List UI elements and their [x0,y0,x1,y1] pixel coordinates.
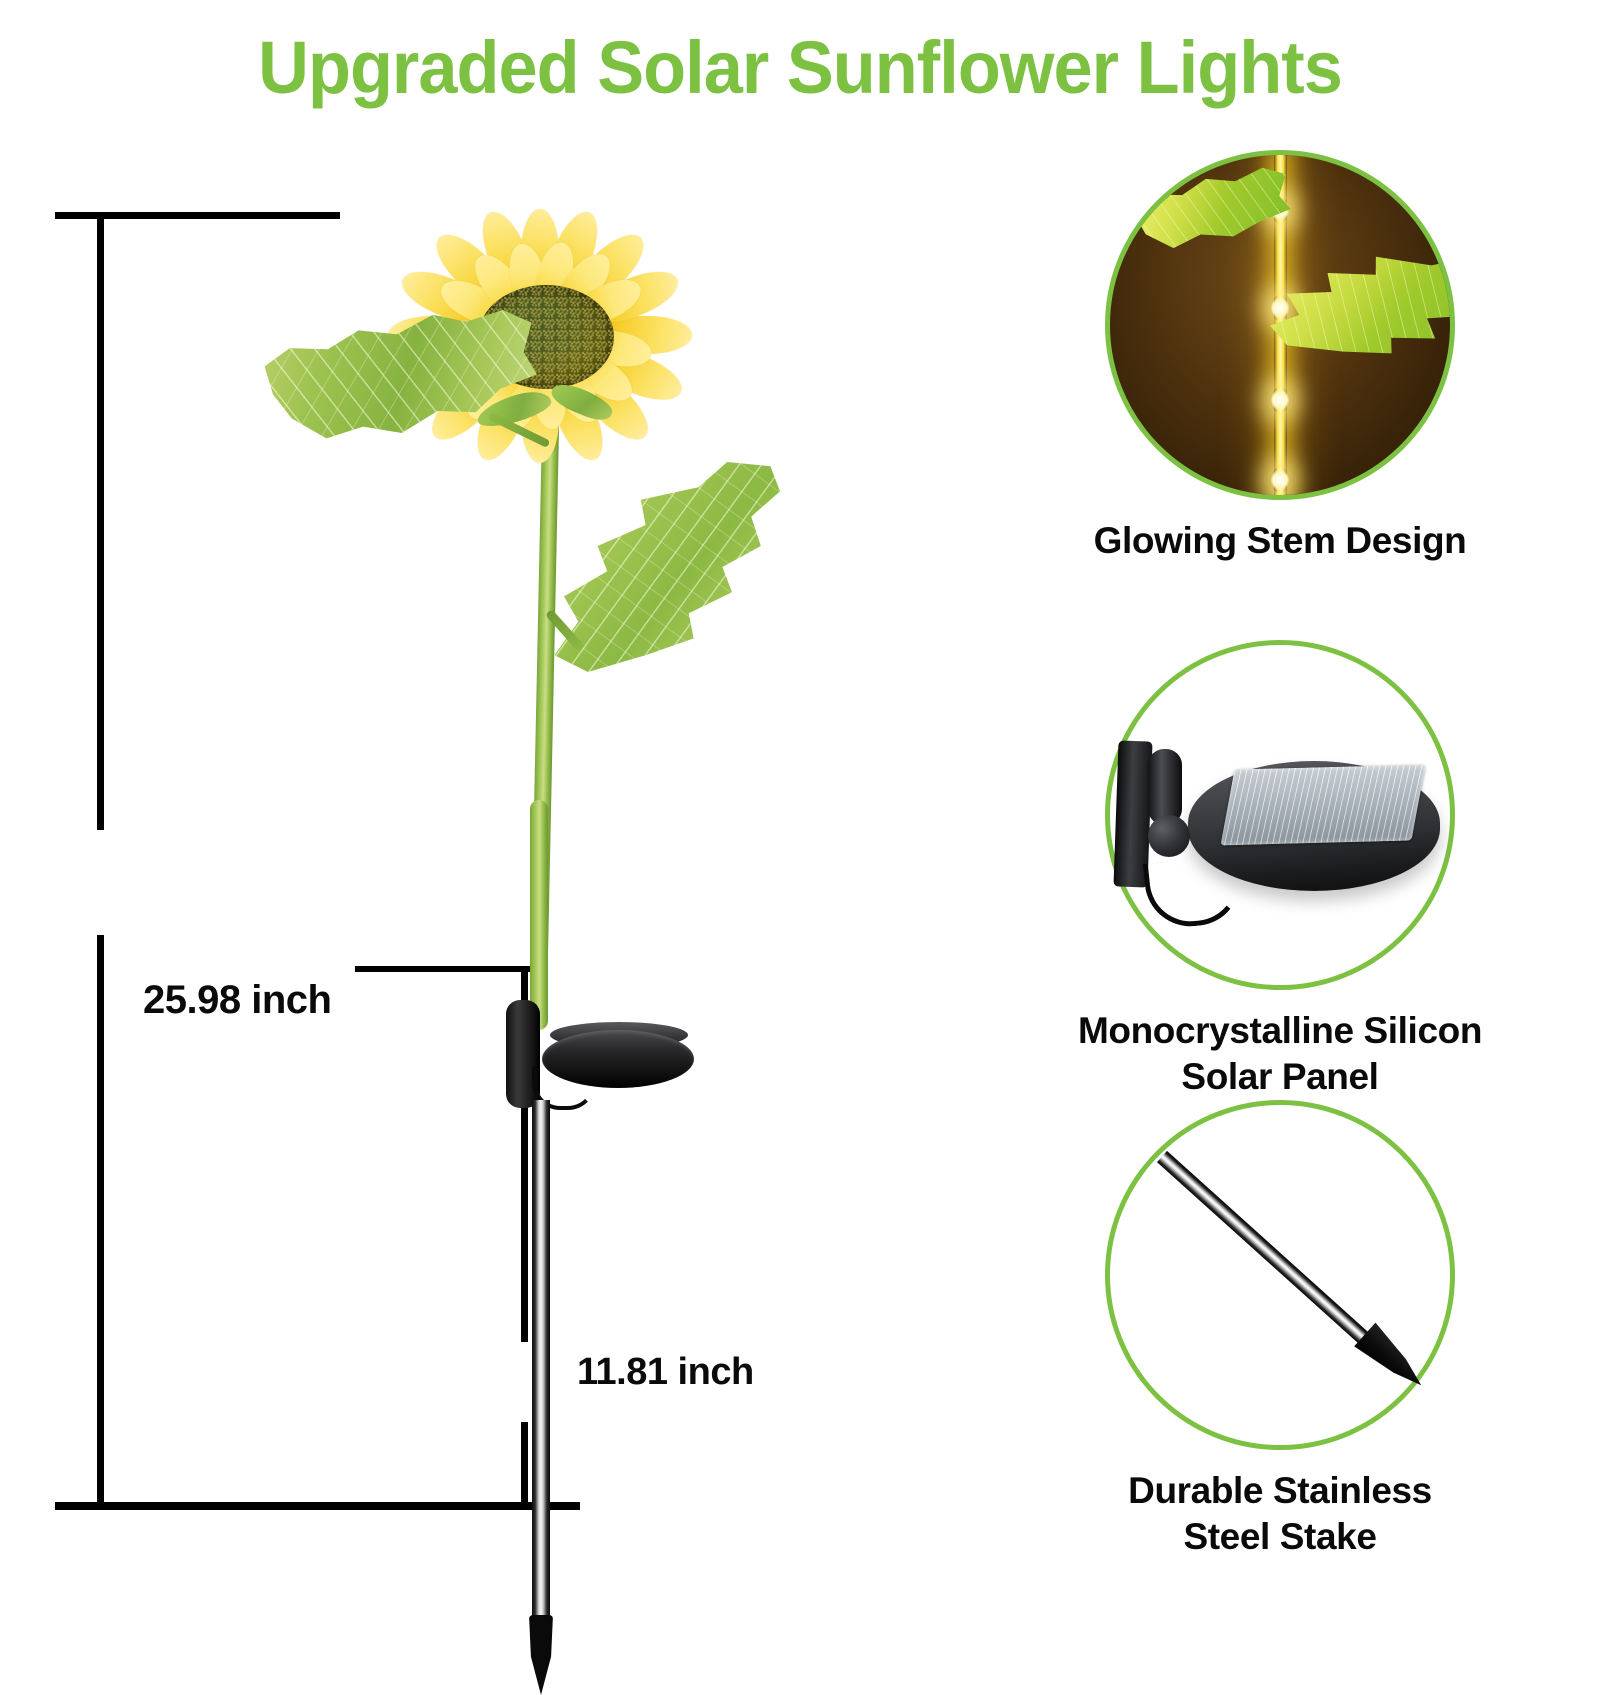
led-dot [1271,387,1289,413]
product-illustration [240,200,800,1650]
feature-caption-glowing-stem: Glowing Stem Design [960,518,1600,564]
solar-panel-unit [498,1000,708,1110]
caption-line: Solar Panel [960,1054,1600,1100]
feature-solar-panel: Monocrystalline Silicon Solar Panel [960,640,1600,1100]
steel-stake-rod [532,1100,550,1620]
steel-stake-image [1105,1100,1455,1450]
caption-line: Glowing Stem Design [960,518,1600,564]
led-dot [1271,467,1289,493]
led-dot [1271,295,1289,321]
solar-panel-image [1105,640,1455,990]
feature-glowing-stem: Glowing Stem Design [960,150,1600,564]
caption-line: Monocrystalline Silicon [960,1008,1600,1054]
dim-line-total-lower [97,935,104,1508]
dim-line-total-upper [97,216,104,830]
feature-caption-solar-panel: Monocrystalline Silicon Solar Panel [960,1008,1600,1100]
stake-rod [1157,1151,1368,1343]
feature-steel-stake: Durable Stainless Steel Stake [960,1100,1600,1560]
panel-cable-loop [1143,854,1245,931]
panel-hinge-knob [1148,815,1190,857]
glowing-stem-image [1105,150,1455,500]
caption-line: Durable Stainless [960,1468,1600,1514]
steel-stake-tip [529,1615,553,1695]
monocrystalline-cell [1220,765,1425,846]
plant-stem-lower [530,800,548,1030]
dimension-diagram: 25.98 inch 11.81 inch [0,140,960,1600]
glowing-leaf-left [1125,158,1295,259]
panel-hinge-barrel [1148,749,1182,825]
feature-caption-steel-stake: Durable Stainless Steel Stake [960,1468,1600,1560]
feature-callouts: Glowing Stem Design Monocrystalline Sili… [960,0,1600,1600]
caption-line: Steel Stake [960,1514,1600,1560]
